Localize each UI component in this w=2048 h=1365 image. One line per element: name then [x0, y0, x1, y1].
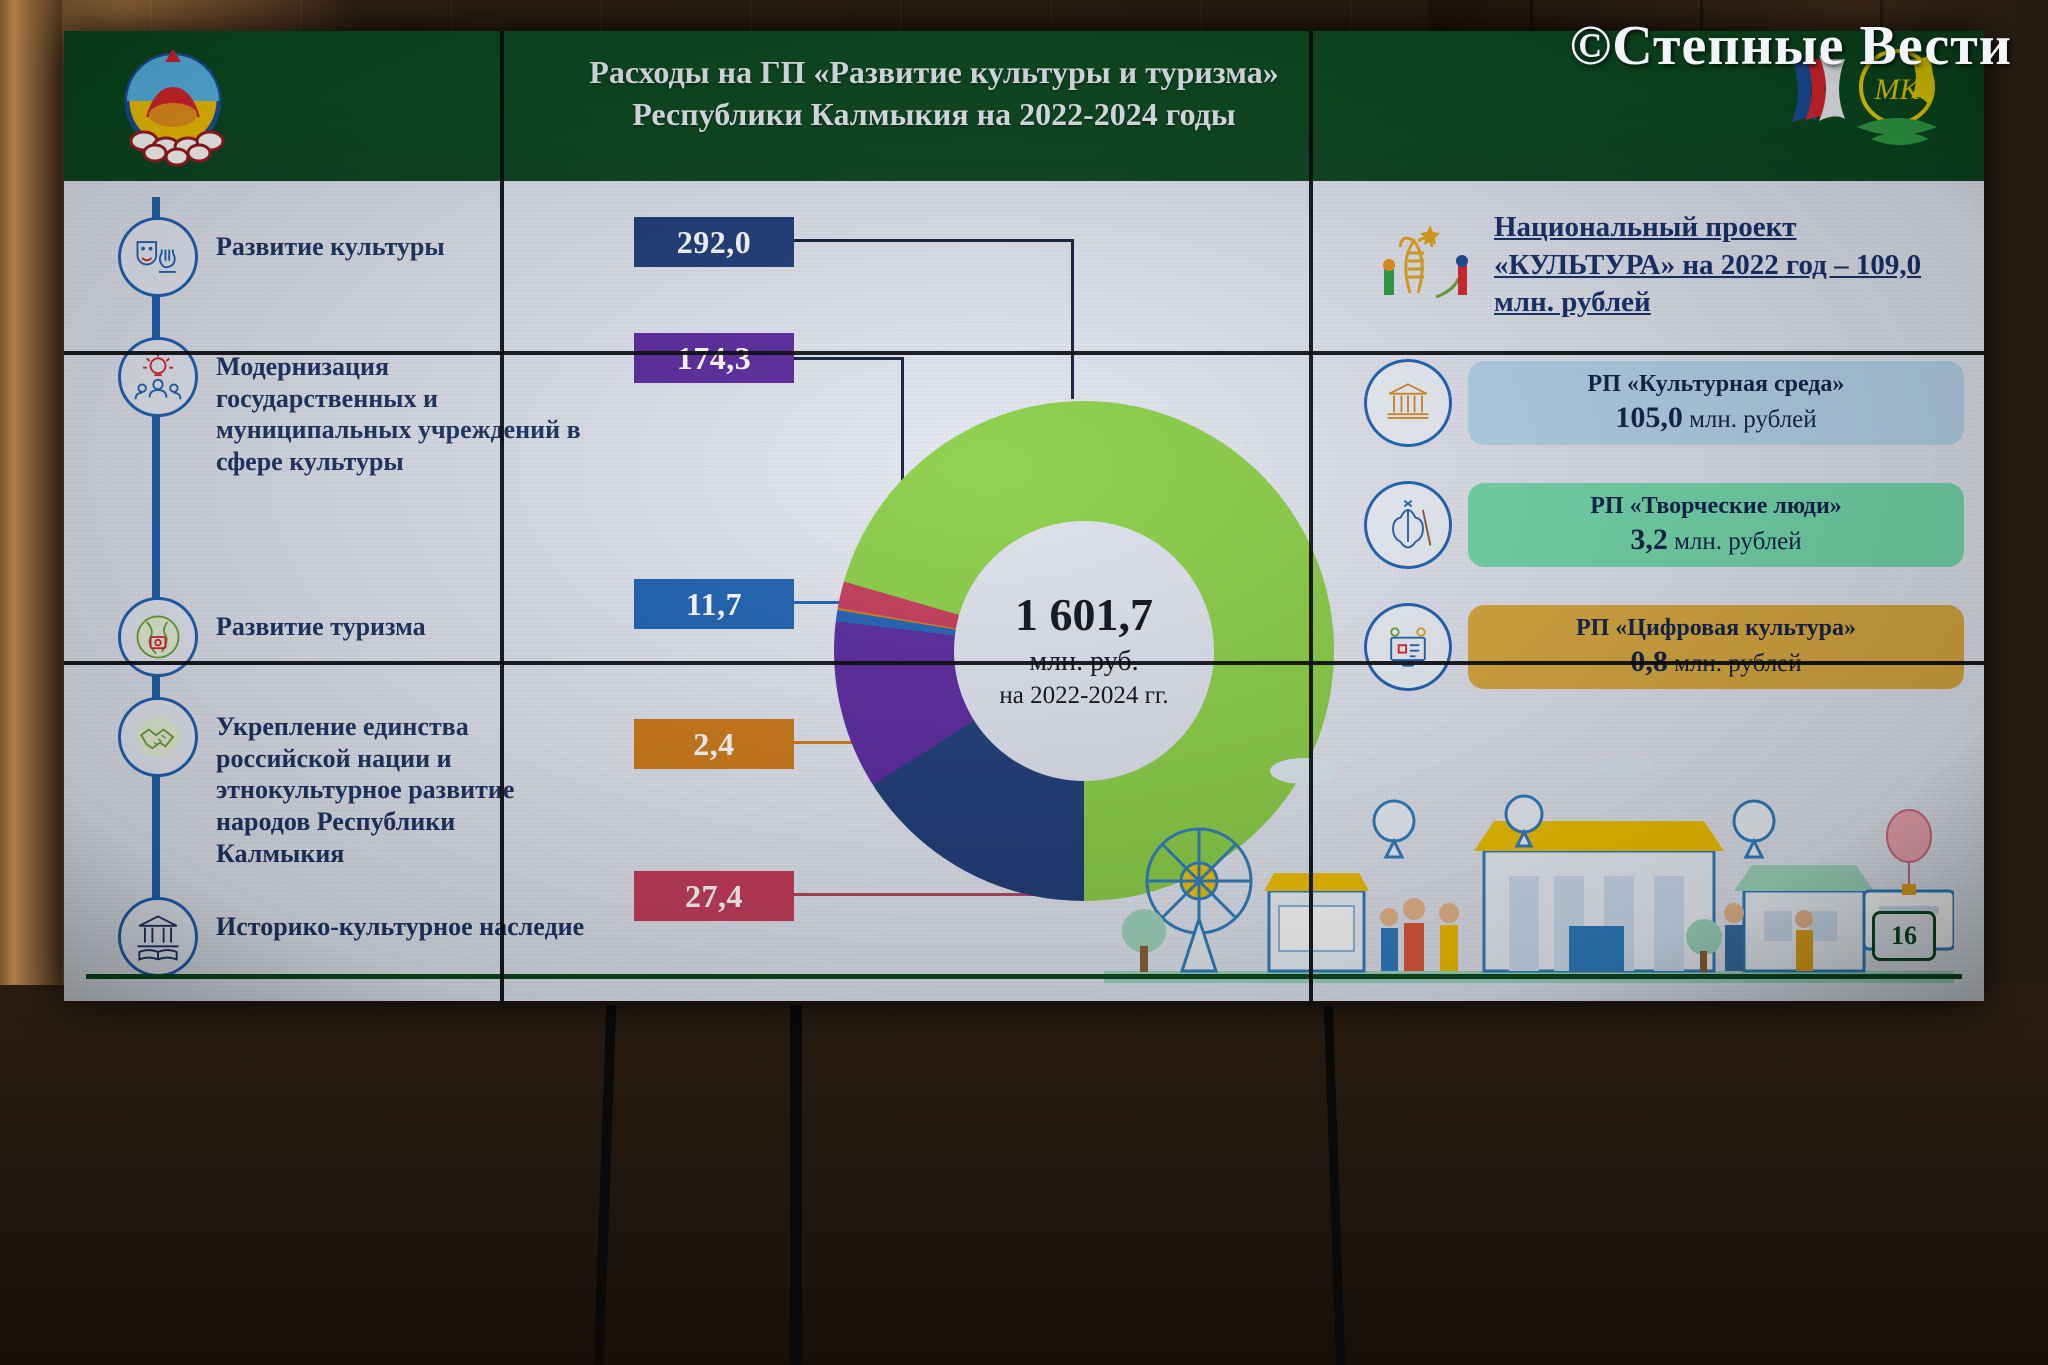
donut-total: 1 601,7 — [1015, 592, 1153, 638]
program-item-heritage[interactable]: Историко-культурное наследие — [118, 897, 588, 977]
title-line-2: Республики Калмыкия на 2022-2024 годы — [334, 93, 1534, 135]
city-culture-illustration — [1104, 741, 1954, 1001]
screen-bezel-seam — [1309, 31, 1313, 1001]
value-chip-heritage: 27,4 — [634, 871, 794, 921]
rp-row-cultural-environment[interactable]: РП «Культурная среда» 105,0 млн. рублей — [1364, 351, 1964, 455]
program-item-unity[interactable]: Укрепление единства российской нации и э… — [118, 697, 588, 870]
leader-line-modernization — [794, 357, 904, 360]
screen-bezel-seam — [64, 661, 1984, 665]
video-wall-screen: Расходы на ГП «Развитие культуры и туриз… — [64, 31, 1984, 1001]
digital-monitor-icon — [1364, 603, 1452, 691]
mic-stand — [790, 1005, 802, 1365]
lyre-culture-icon — [1374, 209, 1486, 321]
theatre-masks-lyre-icon — [118, 217, 198, 297]
leader-line-culture-vertical — [1071, 239, 1074, 399]
rp-amount: 3,2 — [1630, 523, 1668, 556]
floor — [0, 985, 2048, 1365]
rp-unit: млн. рублей — [1674, 528, 1802, 555]
value-chip-culture: 292,0 — [634, 217, 794, 267]
value-chip-unity: 2,4 — [634, 719, 794, 769]
national-project-title: Национальный проект «КУЛЬТУРА» на 2022 г… — [1494, 209, 1964, 322]
program-label: Развитие туризма — [216, 597, 426, 643]
museum-book-icon — [118, 897, 198, 977]
rp-box-creative-people: РП «Творческие люди» 3,2 млн. рублей — [1468, 483, 1964, 568]
rp-row-creative-people[interactable]: РП «Творческие люди» 3,2 млн. рублей — [1364, 473, 1964, 577]
rp-unit: млн. рублей — [1689, 406, 1817, 433]
rp-amount: 105,0 — [1615, 401, 1683, 434]
rp-name: РП «Цифровая культура» — [1480, 615, 1952, 643]
program-item-modernization[interactable]: Модернизация государственных и муниципал… — [118, 337, 588, 478]
title-line-1: Расходы на ГП «Развитие культуры и туриз… — [334, 51, 1534, 93]
handshake-icon — [118, 697, 198, 777]
screen-bezel-seam — [64, 351, 1984, 355]
value-chip-tourism: 11,7 — [634, 579, 794, 629]
leader-line-culture — [794, 239, 1074, 242]
rp-name: РП «Творческие люди» — [1480, 493, 1952, 521]
donut-period: на 2022-2024 гг. — [999, 682, 1168, 710]
globe-camera-icon — [118, 597, 198, 677]
program-item-tourism[interactable]: Развитие туризма — [118, 597, 588, 677]
program-label: Модернизация государственных и муниципал… — [216, 337, 588, 478]
program-list: Развитие культуры — [90, 197, 650, 987]
page-title: Расходы на ГП «Развитие культуры и туриз… — [334, 51, 1534, 135]
program-label: Развитие культуры — [216, 217, 445, 263]
program-label: Укрепление единства российской нации и э… — [216, 697, 588, 870]
rp-box-digital-culture: РП «Цифровая культура» 0,8 млн. рублей — [1468, 605, 1964, 690]
violin-music-icon — [1364, 481, 1452, 569]
page-number-badge: 16 — [1872, 911, 1936, 961]
program-item-culture[interactable]: Развитие культуры — [118, 217, 638, 297]
presentation-slide: Расходы на ГП «Развитие культуры и туриз… — [64, 31, 1984, 1001]
rp-name: РП «Культурная среда» — [1480, 371, 1952, 399]
footer-rule — [86, 974, 1962, 979]
screen-bezel-seam — [500, 31, 504, 1001]
coat-of-arms-kalmykia-icon — [106, 43, 241, 171]
watermark: ©Степные Вести — [1569, 14, 2012, 78]
value-chip-modernization: 174,3 — [634, 333, 794, 383]
national-project-panel: Национальный проект «КУЛЬТУРА» на 2022 г… — [1364, 201, 1964, 761]
lightbulb-people-icon — [118, 337, 198, 417]
museum-building-icon — [1364, 359, 1452, 447]
slide-body: Развитие культуры — [64, 181, 1984, 1001]
rp-row-digital-culture[interactable]: РП «Цифровая культура» 0,8 млн. рублей — [1364, 595, 1964, 699]
rp-box-cultural-environment: РП «Культурная среда» 105,0 млн. рублей — [1468, 361, 1964, 446]
program-label: Историко-культурное наследие — [216, 897, 584, 943]
